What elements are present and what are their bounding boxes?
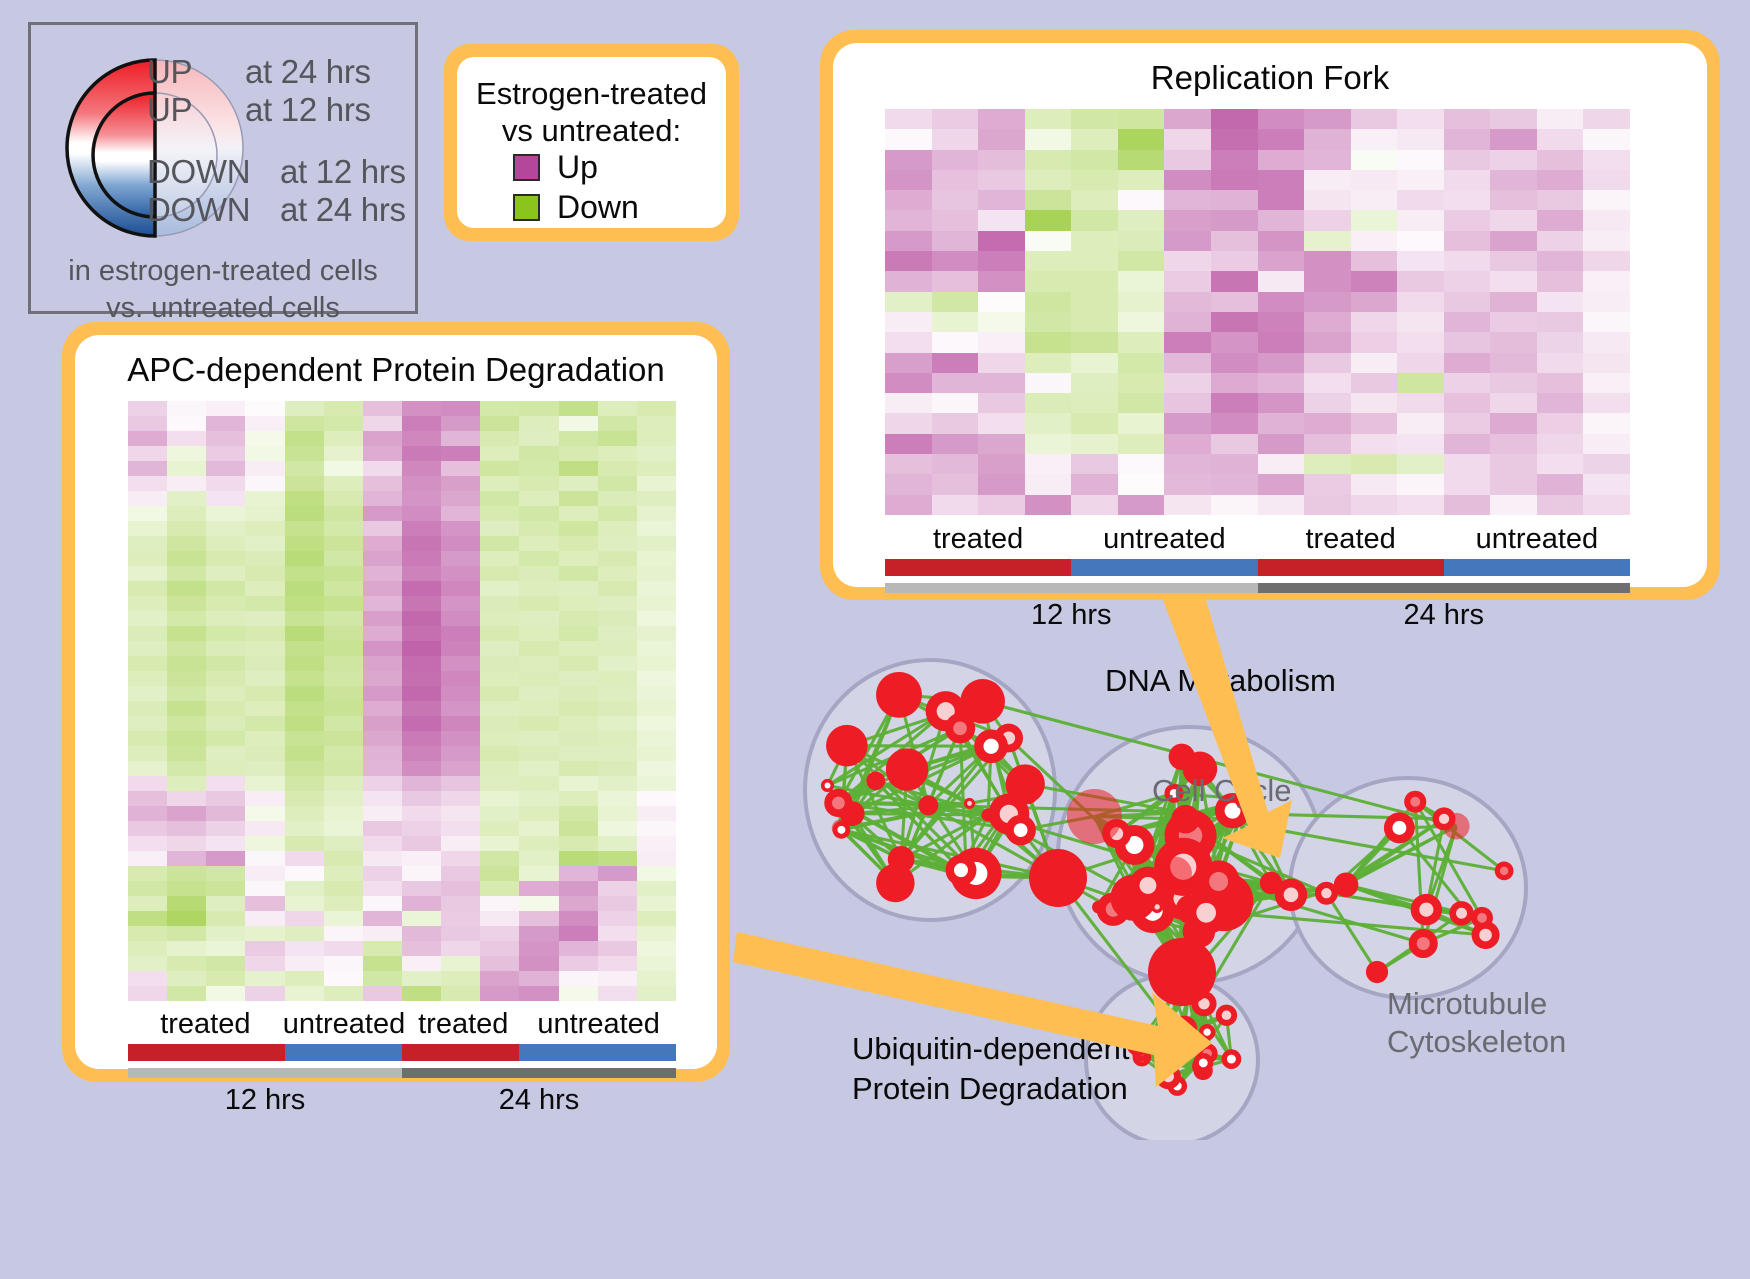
heatmap-cell xyxy=(245,506,284,521)
heatmap-cell xyxy=(167,836,206,851)
heatmap-cell xyxy=(441,551,480,566)
heatmap-cell xyxy=(1164,393,1211,413)
heatmap-cell xyxy=(363,416,402,431)
heatmap-cell xyxy=(441,536,480,551)
network-node-core xyxy=(954,863,968,877)
heatmap-cell xyxy=(245,626,284,641)
heatmap-cell xyxy=(1258,150,1305,170)
heatmap-cell xyxy=(1025,332,1072,352)
heatmap-cell xyxy=(1537,231,1584,251)
heatmap-cell xyxy=(598,506,637,521)
heatmap-cell xyxy=(441,941,480,956)
network-node xyxy=(1067,789,1122,844)
heatmap-cell xyxy=(598,641,637,656)
heatmap-cell xyxy=(1351,495,1398,515)
heatmap-cell xyxy=(285,491,324,506)
heatmap-cell xyxy=(206,701,245,716)
heatmap-cell xyxy=(1118,251,1165,271)
heatmap-cell xyxy=(324,761,363,776)
heatmap-cell xyxy=(598,986,637,1001)
heatmap-cell xyxy=(1490,190,1537,210)
heatmap-cell xyxy=(978,393,1025,413)
heatmap-cell xyxy=(402,986,441,1001)
heatmap-cell xyxy=(1490,231,1537,251)
heatmap-cell xyxy=(245,476,284,491)
heatmap-cell xyxy=(1164,231,1211,251)
heatmap-cell xyxy=(978,495,1025,515)
heatmap-cell xyxy=(324,506,363,521)
heatmap-cell xyxy=(167,641,206,656)
heatmap-cell xyxy=(402,956,441,971)
heatmap-cell xyxy=(324,926,363,941)
heatmap-cell xyxy=(167,446,206,461)
heatmap-cell xyxy=(1164,353,1211,373)
heatmap-cell xyxy=(1118,271,1165,291)
heatmap-cell xyxy=(978,190,1025,210)
heatmap-cell xyxy=(285,551,324,566)
heatmap-cell xyxy=(1444,373,1491,393)
heatmap-cell xyxy=(1397,292,1444,312)
heatmap-cell xyxy=(1304,129,1351,149)
heatmap-cell xyxy=(441,446,480,461)
heatmap-cell xyxy=(519,776,558,791)
heatmap-cell xyxy=(402,521,441,536)
heatmap-cell xyxy=(1397,150,1444,170)
heatmap-cell xyxy=(559,431,598,446)
heatmap-cell xyxy=(167,941,206,956)
network-node xyxy=(1158,857,1192,891)
heatmap-cell xyxy=(167,506,206,521)
heatmap-cell xyxy=(1444,231,1491,251)
heatmap-cell xyxy=(480,776,519,791)
heatmap-cell xyxy=(441,506,480,521)
heatmap-cell xyxy=(519,716,558,731)
heatmap-cell xyxy=(128,776,167,791)
color-key-footer: in estrogen-treated cells vs. untreated … xyxy=(31,253,415,326)
heatmap-cell xyxy=(1444,434,1491,454)
key-row-1-label: UP xyxy=(147,91,192,129)
heatmap-cell xyxy=(559,701,598,716)
heatmap-cell xyxy=(932,190,979,210)
heatmap-cell xyxy=(1258,109,1305,129)
heatmap-cell xyxy=(1537,413,1584,433)
heatmap-cell xyxy=(885,251,932,271)
heatmap-cell xyxy=(519,551,558,566)
apc-time-bar xyxy=(128,1068,676,1078)
heatmap-cell xyxy=(285,626,324,641)
heatmap-cell xyxy=(1304,353,1351,373)
heatmap-cell xyxy=(1258,190,1305,210)
heatmap-cell xyxy=(1583,373,1630,393)
heatmap-cell xyxy=(363,671,402,686)
heatmap-cell xyxy=(1397,312,1444,332)
heatmap-cell xyxy=(402,911,441,926)
heatmap-cell xyxy=(559,401,598,416)
heatmap-cell xyxy=(1025,190,1072,210)
heatmap-cell xyxy=(1025,210,1072,230)
heatmap-cell xyxy=(245,461,284,476)
heatmap-cell xyxy=(637,611,676,626)
heatmap-cell xyxy=(441,641,480,656)
heatmap-cell xyxy=(285,791,324,806)
heatmap-cell xyxy=(245,956,284,971)
heatmap-cell xyxy=(441,566,480,581)
heatmap-cell xyxy=(1583,170,1630,190)
heatmap-cell xyxy=(1444,129,1491,149)
time-label: 24 hrs xyxy=(402,1084,676,1117)
heatmap-cell xyxy=(285,671,324,686)
heatmap-cell xyxy=(932,129,979,149)
heatmap-cell xyxy=(1118,170,1165,190)
heatmap-cell xyxy=(167,971,206,986)
heatmap-cell xyxy=(128,851,167,866)
heatmap-cell xyxy=(1583,190,1630,210)
treatment-segment xyxy=(1444,559,1630,576)
heatmap-cell xyxy=(441,821,480,836)
heatmap-cell xyxy=(1490,353,1537,373)
treatment-segment xyxy=(402,1044,519,1061)
heatmap-cell xyxy=(1164,413,1211,433)
heatmap-cell xyxy=(1444,393,1491,413)
heatmap-cell xyxy=(206,491,245,506)
network-node-core xyxy=(1439,814,1449,824)
heatmap-cell xyxy=(128,401,167,416)
heatmap-cell xyxy=(128,641,167,656)
heatmap-cell xyxy=(559,551,598,566)
heatmap-cell xyxy=(1025,271,1072,291)
heatmap-cell xyxy=(480,866,519,881)
network-node-core xyxy=(1014,823,1028,837)
heatmap-cell xyxy=(363,941,402,956)
heatmap-cell xyxy=(1397,393,1444,413)
heatmap-cell xyxy=(637,746,676,761)
heatmap-cell xyxy=(637,476,676,491)
heatmap-cell xyxy=(206,731,245,746)
heatmap-cell xyxy=(441,791,480,806)
heatmap-cell xyxy=(637,551,676,566)
heatmap-cell xyxy=(1304,210,1351,230)
heatmap-cell xyxy=(1211,190,1258,210)
heatmap-cell xyxy=(885,434,932,454)
heatmap-cell xyxy=(1025,495,1072,515)
heatmap-cell xyxy=(637,431,676,446)
heatmap-cell xyxy=(1211,393,1258,413)
heatmap-cell xyxy=(480,791,519,806)
heatmap-cell xyxy=(363,596,402,611)
heatmap-cell xyxy=(885,454,932,474)
heatmap-cell xyxy=(245,596,284,611)
heatmap-cell xyxy=(441,431,480,446)
heatmap-cell xyxy=(519,911,558,926)
heatmap-cell xyxy=(598,791,637,806)
heatmap-cell xyxy=(441,851,480,866)
heatmap-cell xyxy=(480,641,519,656)
heatmap-cell xyxy=(206,581,245,596)
heatmap-cell xyxy=(1351,271,1398,291)
heatmap-cell xyxy=(598,761,637,776)
heatmap-cell xyxy=(1583,332,1630,352)
heatmap-cell xyxy=(128,911,167,926)
heatmap-cell xyxy=(324,851,363,866)
heatmap-cell xyxy=(128,836,167,851)
heatmap-cell xyxy=(285,536,324,551)
heatmap-cell xyxy=(363,656,402,671)
heatmap-cell xyxy=(1211,474,1258,494)
heatmap-cell xyxy=(1351,231,1398,251)
heatmap-cell xyxy=(285,866,324,881)
heatmap-cell xyxy=(598,821,637,836)
heatmap-cell xyxy=(1304,271,1351,291)
replication-fork-time-bar xyxy=(885,583,1630,593)
network-label: Cytoskeleton xyxy=(1387,1023,1566,1060)
legend-heading-line2: vs untreated: xyxy=(457,112,726,149)
heatmap-cell xyxy=(1537,353,1584,373)
heatmap-cell xyxy=(128,476,167,491)
heatmap-cell xyxy=(978,454,1025,474)
heatmap-cell xyxy=(932,332,979,352)
heatmap-cell xyxy=(637,491,676,506)
heatmap-cell xyxy=(480,671,519,686)
heatmap-cell xyxy=(1444,332,1491,352)
heatmap-cell xyxy=(128,986,167,1001)
heatmap-cell xyxy=(285,806,324,821)
heatmap-cell xyxy=(598,461,637,476)
heatmap-cell xyxy=(480,806,519,821)
heatmap-cell xyxy=(1025,231,1072,251)
heatmap-cell xyxy=(324,686,363,701)
heatmap-cell xyxy=(128,446,167,461)
heatmap-cell xyxy=(245,851,284,866)
heatmap-cell xyxy=(480,566,519,581)
heatmap-cell xyxy=(519,866,558,881)
heatmap-cell xyxy=(402,416,441,431)
network-node-core xyxy=(1417,937,1430,950)
heatmap-cell xyxy=(1304,454,1351,474)
heatmap-cell xyxy=(598,881,637,896)
heatmap-cell xyxy=(885,210,932,230)
heatmap-cell xyxy=(519,446,558,461)
heatmap-cell xyxy=(363,536,402,551)
heatmap-cell xyxy=(519,431,558,446)
heatmap-cell xyxy=(978,292,1025,312)
heatmap-cell xyxy=(206,911,245,926)
heatmap-cell xyxy=(1304,434,1351,454)
heatmap-cell xyxy=(637,761,676,776)
heatmap-cell xyxy=(402,791,441,806)
treatment-segment xyxy=(519,1044,676,1061)
heatmap-cell xyxy=(128,686,167,701)
legend-heading-line1: Estrogen-treated xyxy=(457,75,726,112)
heatmap-cell xyxy=(1071,353,1118,373)
heatmap-cell xyxy=(1118,495,1165,515)
heatmap-cell xyxy=(285,956,324,971)
heatmap-cell xyxy=(559,941,598,956)
heatmap-cell xyxy=(1444,353,1491,373)
heatmap-cell xyxy=(441,761,480,776)
heatmap-cell xyxy=(206,866,245,881)
heatmap-cell xyxy=(480,986,519,1001)
heatmap-cell xyxy=(1583,312,1630,332)
heatmap-cell xyxy=(885,129,932,149)
heatmap-cell xyxy=(324,911,363,926)
heatmap-cell xyxy=(885,474,932,494)
heatmap-cell xyxy=(1211,413,1258,433)
heatmap-cell xyxy=(402,866,441,881)
heatmap-cell xyxy=(885,231,932,251)
heatmap-cell xyxy=(324,671,363,686)
heatmap-cell xyxy=(206,596,245,611)
heatmap-cell xyxy=(1118,413,1165,433)
heatmap-cell xyxy=(128,536,167,551)
network-node-core xyxy=(1139,877,1156,894)
heatmap-cell xyxy=(245,521,284,536)
time-segment xyxy=(402,1068,676,1078)
heatmap-cell xyxy=(1164,373,1211,393)
heatmap-cell xyxy=(285,851,324,866)
heatmap-cell xyxy=(441,926,480,941)
group-label: treated xyxy=(885,523,1071,556)
heatmap-cell xyxy=(402,896,441,911)
heatmap-cell xyxy=(324,476,363,491)
heatmap-cell xyxy=(1304,109,1351,129)
heatmap-cell xyxy=(1211,109,1258,129)
heatmap-cell xyxy=(1490,413,1537,433)
heatmap-cell xyxy=(167,401,206,416)
heatmap-cell xyxy=(128,551,167,566)
heatmap-cell xyxy=(637,866,676,881)
heatmap-cell xyxy=(285,401,324,416)
heatmap-cell xyxy=(128,761,167,776)
heatmap-cell xyxy=(128,806,167,821)
heatmap-cell xyxy=(559,536,598,551)
network-node-core xyxy=(1419,903,1433,917)
heatmap-cell xyxy=(559,806,598,821)
heatmap-cell xyxy=(519,416,558,431)
heatmap-cell xyxy=(324,641,363,656)
heatmap-cell xyxy=(1490,474,1537,494)
heatmap-cell xyxy=(932,434,979,454)
heatmap-cell xyxy=(285,926,324,941)
heatmap-cell xyxy=(1444,454,1491,474)
heatmap-cell xyxy=(637,686,676,701)
heatmap-cell xyxy=(402,971,441,986)
network-node-core xyxy=(953,721,967,735)
heatmap-cell xyxy=(206,566,245,581)
heatmap-cell xyxy=(441,776,480,791)
heatmap-cell xyxy=(1118,332,1165,352)
heatmap-cell xyxy=(598,446,637,461)
heatmap-cell xyxy=(1211,312,1258,332)
heatmap-cell xyxy=(519,566,558,581)
heatmap-cell xyxy=(1164,474,1211,494)
heatmap-cell xyxy=(637,566,676,581)
heatmap-cell xyxy=(206,791,245,806)
heatmap-cell xyxy=(1490,373,1537,393)
heatmap-cell xyxy=(1444,413,1491,433)
group-label: untreated xyxy=(1071,523,1257,556)
heatmap-cell xyxy=(932,292,979,312)
heatmap-cell xyxy=(885,413,932,433)
network-label: DNA Metabolism xyxy=(1105,662,1336,699)
heatmap-cell xyxy=(402,431,441,446)
heatmap-cell xyxy=(167,701,206,716)
heatmap-cell xyxy=(1025,353,1072,373)
heatmap-cell xyxy=(167,731,206,746)
heatmap-cell xyxy=(324,491,363,506)
heatmap-cell xyxy=(1351,312,1398,332)
heatmap-cell xyxy=(637,446,676,461)
heatmap-cell xyxy=(1490,454,1537,474)
heatmap-cell xyxy=(1118,210,1165,230)
heatmap-cell xyxy=(1583,150,1630,170)
heatmap-cell xyxy=(1304,332,1351,352)
heatmap-cell xyxy=(1164,434,1211,454)
heatmap-cell xyxy=(167,716,206,731)
heatmap-cell xyxy=(245,791,284,806)
legend-label-down: Down xyxy=(557,189,639,226)
heatmap-cell xyxy=(885,332,932,352)
heatmap-cell xyxy=(1583,393,1630,413)
heatmap-cell xyxy=(598,776,637,791)
replication-fork-treatment-bar xyxy=(885,559,1630,576)
heatmap-cell xyxy=(1258,332,1305,352)
heatmap-cell xyxy=(637,821,676,836)
heatmap-cell xyxy=(480,956,519,971)
heatmap-cell xyxy=(402,806,441,821)
heatmap-cell xyxy=(1583,231,1630,251)
heatmap-cell xyxy=(1258,373,1305,393)
heatmap-cell xyxy=(1490,251,1537,271)
heatmap-cell xyxy=(598,416,637,431)
heatmap-cell xyxy=(1071,129,1118,149)
heatmap-cell xyxy=(480,836,519,851)
heatmap-cell xyxy=(1537,454,1584,474)
heatmap-cell xyxy=(1351,251,1398,271)
heatmap-cell xyxy=(1583,271,1630,291)
heatmap-cell xyxy=(637,851,676,866)
heatmap-cell xyxy=(441,746,480,761)
heatmap-cell xyxy=(932,150,979,170)
heatmap-cell xyxy=(206,626,245,641)
heatmap-cell xyxy=(206,941,245,956)
heatmap-cell xyxy=(1071,170,1118,190)
figure-canvas: UP at 24 hrs UP at 12 hrs DOWN at 12 hrs… xyxy=(0,0,1750,1279)
heatmap-cell xyxy=(559,821,598,836)
heatmap-cell xyxy=(402,926,441,941)
heatmap-cell xyxy=(1351,474,1398,494)
heatmap-cell xyxy=(978,413,1025,433)
heatmap-cell xyxy=(1351,454,1398,474)
heatmap-cell xyxy=(1397,495,1444,515)
heatmap-cell xyxy=(245,746,284,761)
heatmap-cell xyxy=(363,641,402,656)
heatmap-cell xyxy=(637,776,676,791)
heatmap-cell xyxy=(1537,271,1584,291)
heatmap-cell xyxy=(128,581,167,596)
heatmap-cell xyxy=(402,476,441,491)
heatmap-cell xyxy=(598,566,637,581)
heatmap-cell xyxy=(1118,231,1165,251)
network-node-core xyxy=(1410,797,1420,807)
heatmap-cell xyxy=(245,581,284,596)
heatmap-cell xyxy=(559,956,598,971)
heatmap-cell xyxy=(932,413,979,433)
heatmap-cell xyxy=(559,626,598,641)
heatmap-cell xyxy=(480,491,519,506)
heatmap-cell xyxy=(167,431,206,446)
heatmap-cell xyxy=(1444,292,1491,312)
heatmap-cell xyxy=(1397,231,1444,251)
